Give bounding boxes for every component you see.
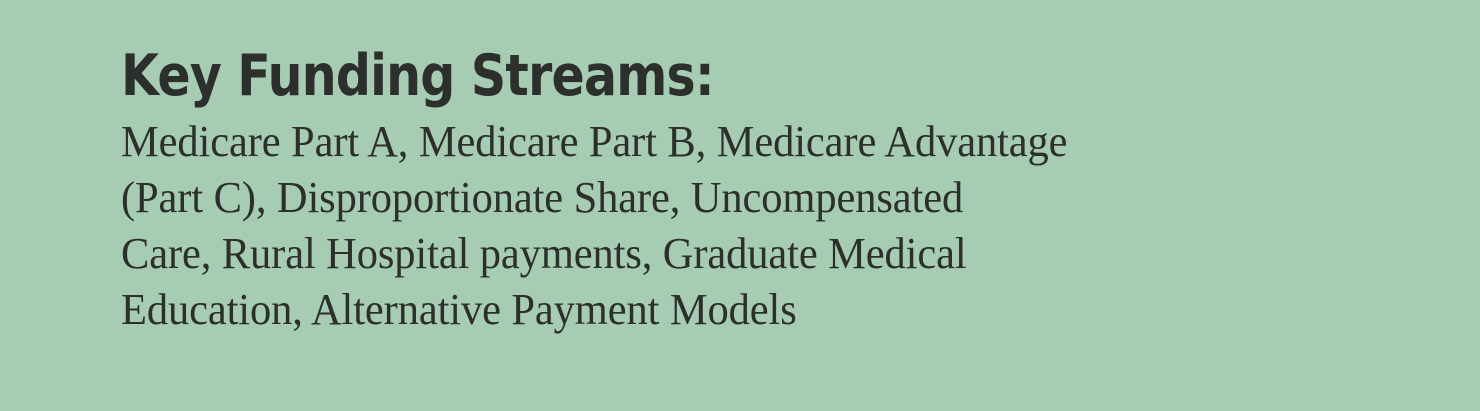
body-line: Care, Rural Hospital payments, Graduate … [121, 226, 1318, 282]
funding-streams-text: Medicare Part A, Medicare Part B, Medica… [121, 114, 1318, 338]
body-line: (Part C), Disproportionate Share, Uncomp… [121, 170, 1318, 226]
body-line: Education, Alternative Payment Models [121, 282, 1318, 338]
callout-content: Key Funding Streams: Medicare Part A, Me… [121, 44, 1361, 338]
page-title: Key Funding Streams: [121, 44, 1187, 108]
body-line: Medicare Part A, Medicare Part B, Medica… [121, 114, 1318, 170]
key-funding-streams-card: Key Funding Streams: Medicare Part A, Me… [0, 0, 1480, 411]
